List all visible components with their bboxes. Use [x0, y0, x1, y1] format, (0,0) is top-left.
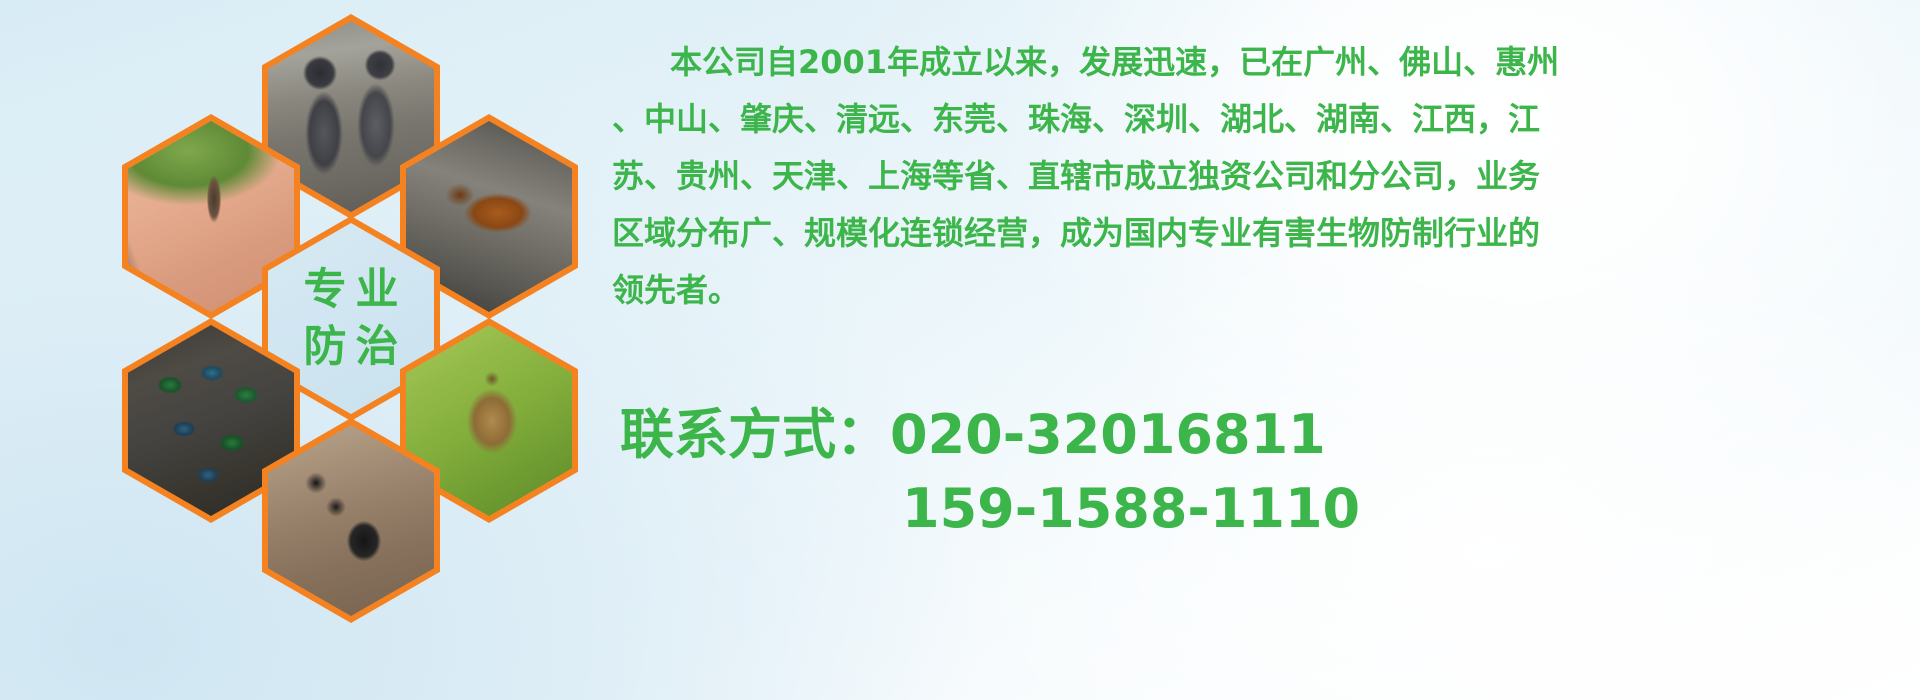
- honeycomb-logo-cluster: 专业 防治: [100, 14, 580, 574]
- ant-photo: [268, 425, 434, 616]
- intro-line-1: 本公司自2001年成立以来，发展迅速，已在广州、佛山、惠州: [612, 34, 1912, 91]
- intro-line-5: 领先者。: [612, 262, 1912, 319]
- hex-inner-ant: [268, 425, 434, 616]
- intro-line-4: 区域分布广、规模化连锁经营，成为国内专业有害生物防制行业的: [612, 205, 1912, 262]
- pest-control-banner: 专业 防治 本公司自2001年成立以来，发展迅速，已在广州、佛山、惠州 、中山、…: [0, 0, 1920, 700]
- slogan-line-2: 防治: [295, 319, 408, 376]
- contact-phone-primary[interactable]: 联系方式：020-32016811: [620, 398, 1360, 472]
- slogan-line-1: 专业: [295, 262, 408, 319]
- intro-line-2: 、中山、肇庆、清远、东莞、珠海、深圳、湖北、湖南、江西，江: [612, 91, 1912, 148]
- intro-line-3: 苏、贵州、天津、上海等省、直辖市成立独资公司和分公司，业务: [612, 148, 1912, 205]
- contact-phone-mobile[interactable]: 159-1588-1110: [620, 472, 1360, 546]
- company-intro-paragraph: 本公司自2001年成立以来，发展迅速，已在广州、佛山、惠州 、中山、肇庆、清远、…: [612, 34, 1912, 319]
- contact-block: 联系方式：020-32016811 159-1588-1110: [620, 398, 1360, 546]
